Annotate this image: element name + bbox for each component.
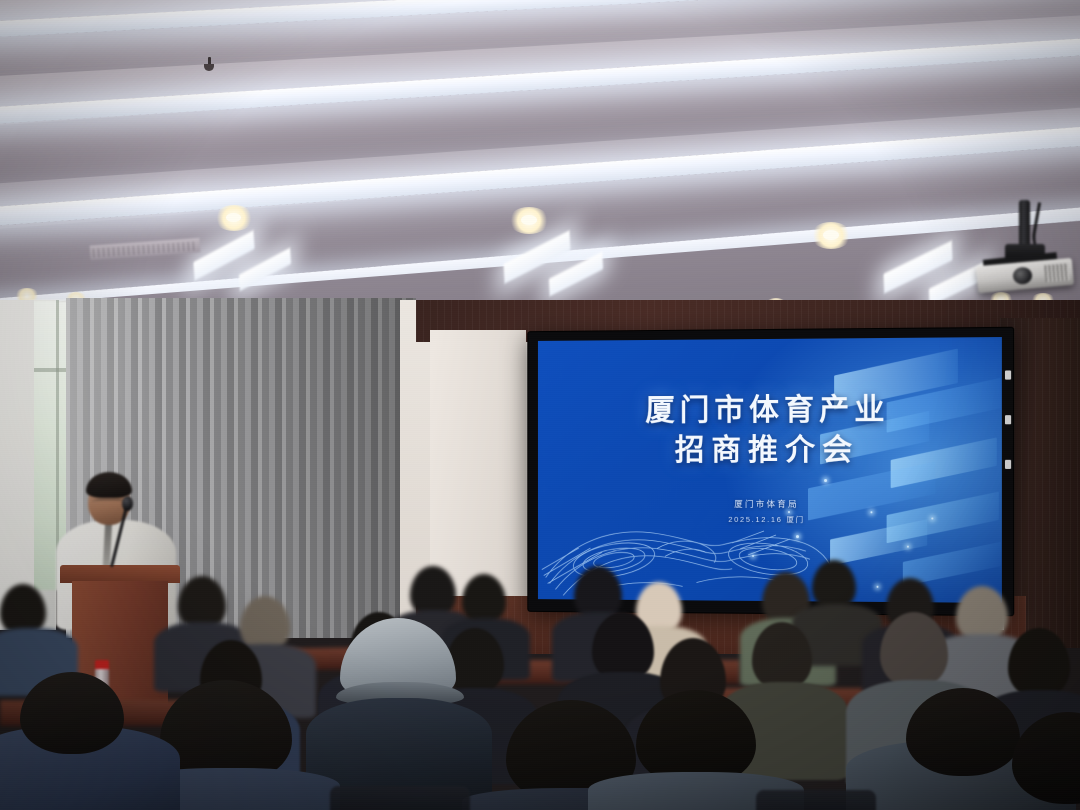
audience-head <box>462 574 506 624</box>
audience-head <box>812 560 856 610</box>
chair-back <box>756 790 876 810</box>
chair-back <box>330 786 470 810</box>
audience-head <box>1008 628 1070 698</box>
audience <box>0 0 1080 810</box>
photo-scene: 厦门市体育产业 招商推介会 厦门市体育局 2025.12.16 厦门 <box>0 0 1080 810</box>
audience-head <box>20 672 124 754</box>
audience-head <box>880 612 948 688</box>
